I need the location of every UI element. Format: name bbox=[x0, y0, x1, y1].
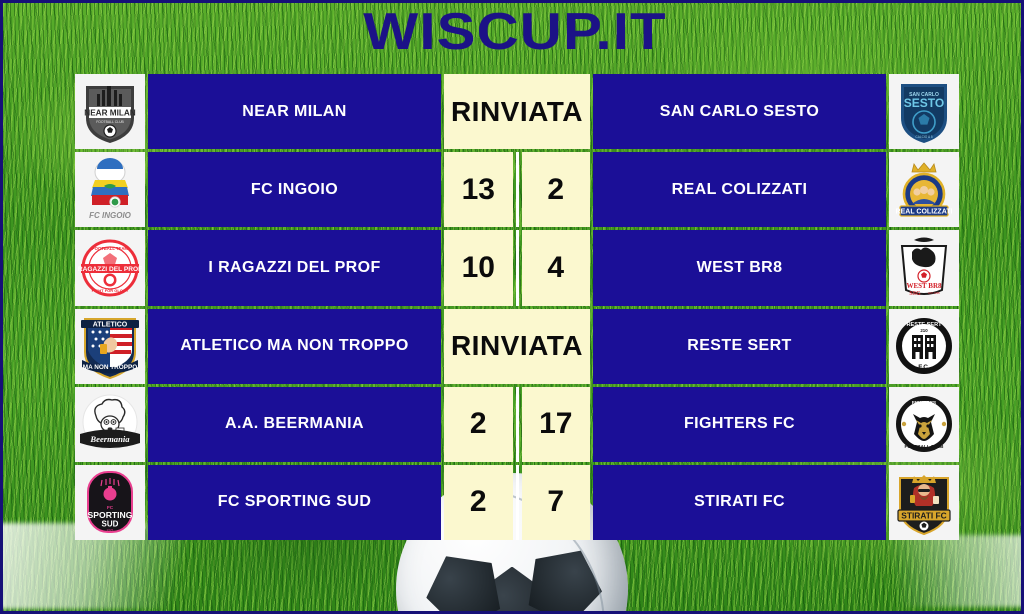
away-logo-cell: WEST BR8 SSG EST 1895 bbox=[889, 230, 959, 305]
home-logo-cell: Beermania bbox=[75, 387, 145, 462]
reste-sert-crest-icon: RESTE SERT 210 F.C. bbox=[892, 312, 956, 380]
away-team-name: REAL COLIZZATI bbox=[593, 152, 886, 227]
page-title: WISCUP.IT bbox=[0, 1, 1024, 63]
home-logo-cell: FC SPORTING SUD 2025 bbox=[75, 465, 145, 540]
home-team-name: ATLETICO MA NON TROPPO bbox=[148, 309, 441, 384]
svg-text:MA NON TROPPO: MA NON TROPPO bbox=[83, 364, 137, 371]
svg-text:FOOTBALL TEAM: FOOTBALL TEAM bbox=[92, 246, 128, 251]
away-logo-cell: FIGHTERS FOOTBALL CLUB bbox=[889, 387, 959, 462]
fc-ingoio-crest-icon: FC INGOIO bbox=[78, 156, 142, 224]
match-status: RINVIATA bbox=[444, 309, 590, 384]
home-logo-cell: FOOTBALL TEAM RAGAZZI DEL PROF FIGHT FOR… bbox=[75, 230, 145, 305]
away-team-name: WEST BR8 bbox=[593, 230, 886, 305]
home-score: 2 bbox=[444, 387, 513, 462]
away-logo-cell: REAL COLIZZATI bbox=[889, 152, 959, 227]
away-team-name: FIGHTERS FC bbox=[593, 387, 886, 462]
away-team-name: SAN CARLO SESTO bbox=[593, 74, 886, 149]
svg-text:FOOTBALL CLUB: FOOTBALL CLUB bbox=[96, 120, 124, 124]
home-score: 10 bbox=[444, 230, 513, 305]
svg-text:REAL COLIZZATI: REAL COLIZZATI bbox=[896, 208, 953, 215]
away-team-name: STIRATI FC bbox=[593, 465, 886, 540]
near-milan-crest-icon: NEAR MILAN FOOTBALL CLUB bbox=[78, 78, 142, 146]
away-logo-cell: SAN CARLO SESTO CALCIO A 5 bbox=[889, 74, 959, 149]
away-logo-cell: STIRATI FC bbox=[889, 465, 959, 540]
svg-text:2025: 2025 bbox=[107, 528, 114, 532]
svg-text:FOOTBALL CLUB: FOOTBALL CLUB bbox=[905, 444, 945, 449]
svg-text:FIGHT FOR GLORY: FIGHT FOR GLORY bbox=[92, 288, 129, 293]
svg-text:ATLETICO: ATLETICO bbox=[93, 321, 128, 328]
table-row: Beermania A.A. BEERMANIA 2 17 FIGHTERS F… bbox=[75, 387, 959, 462]
home-score: 2 bbox=[444, 465, 513, 540]
svg-text:SSG: SSG bbox=[909, 291, 921, 297]
home-team-name: FC SPORTING SUD bbox=[148, 465, 441, 540]
svg-text:RAGAZZI DEL PROF: RAGAZZI DEL PROF bbox=[78, 266, 142, 273]
svg-text:EST 1895: EST 1895 bbox=[928, 291, 940, 295]
svg-text:STIRATI FC: STIRATI FC bbox=[901, 511, 946, 521]
svg-text:SPORTING: SPORTING bbox=[88, 510, 133, 520]
home-score: 13 bbox=[444, 152, 513, 227]
table-row: FC SPORTING SUD 2025 FC SPORTING SUD 2 7… bbox=[75, 465, 959, 540]
svg-text:WEST BR8: WEST BR8 bbox=[906, 282, 942, 290]
score-divider bbox=[516, 152, 519, 227]
home-team-name: I RAGAZZI DEL PROF bbox=[148, 230, 441, 305]
away-score: 2 bbox=[522, 152, 591, 227]
aa-beermania-crest-icon: Beermania bbox=[78, 390, 142, 458]
home-logo-cell: ATLETICO MA NON TROPPO bbox=[75, 309, 145, 384]
table-row: FC INGOIO FC INGOIO 13 2 REAL COLIZZATI bbox=[75, 152, 959, 227]
home-logo-cell: NEAR MILAN FOOTBALL CLUB bbox=[75, 74, 145, 149]
table-row: ATLETICO MA NON TROPPO ATLETICO MA NON T… bbox=[75, 309, 959, 384]
svg-text:NEAR MILAN: NEAR MILAN bbox=[84, 108, 135, 117]
svg-text:FC INGOIO: FC INGOIO bbox=[89, 211, 132, 220]
match-status: RINVIATA bbox=[444, 74, 590, 149]
score-divider bbox=[516, 230, 519, 305]
fc-sporting-sud-crest-icon: FC SPORTING SUD 2025 bbox=[78, 468, 142, 536]
home-team-name: NEAR MILAN bbox=[148, 74, 441, 149]
away-team-name: RESTE SERT bbox=[593, 309, 886, 384]
table-row: FOOTBALL TEAM RAGAZZI DEL PROF FIGHT FOR… bbox=[75, 230, 959, 305]
results-graphic: WISCUP.IT NEAR MILAN FOOTBALL CLUB bbox=[0, 0, 1024, 614]
away-score: 7 bbox=[522, 465, 591, 540]
stirati-fc-crest-icon: STIRATI FC bbox=[892, 468, 956, 536]
west-br8-crest-icon: WEST BR8 SSG EST 1895 bbox=[892, 234, 956, 302]
table-row: NEAR MILAN FOOTBALL CLUB NEAR MILAN RINV… bbox=[75, 74, 959, 149]
real-colizzati-crest-icon: REAL COLIZZATI bbox=[892, 156, 956, 224]
score-divider bbox=[516, 465, 519, 540]
home-team-name: A.A. BEERMANIA bbox=[148, 387, 441, 462]
svg-text:CALCIO A 5: CALCIO A 5 bbox=[915, 135, 932, 139]
san-carlo-sesto-crest-icon: SAN CARLO SESTO CALCIO A 5 bbox=[892, 78, 956, 146]
svg-text:210: 210 bbox=[920, 328, 928, 333]
svg-text:SESTO: SESTO bbox=[904, 96, 944, 110]
away-logo-cell: RESTE SERT 210 F.C. bbox=[889, 309, 959, 384]
away-score: 17 bbox=[522, 387, 591, 462]
score-divider bbox=[516, 387, 519, 462]
atletico-ma-non-troppo-crest-icon: ATLETICO MA NON TROPPO bbox=[78, 312, 142, 380]
pitch-line-right bbox=[841, 535, 1024, 607]
fighters-fc-crest-icon: FIGHTERS FOOTBALL CLUB bbox=[892, 390, 956, 458]
i-ragazzi-del-prof-crest-icon: FOOTBALL TEAM RAGAZZI DEL PROF FIGHT FOR… bbox=[78, 234, 142, 302]
svg-text:F.C.: F.C. bbox=[918, 364, 930, 371]
results-table: NEAR MILAN FOOTBALL CLUB NEAR MILAN RINV… bbox=[75, 74, 959, 540]
away-score: 4 bbox=[522, 230, 591, 305]
home-team-name: FC INGOIO bbox=[148, 152, 441, 227]
svg-text:FIGHTERS: FIGHTERS bbox=[912, 400, 937, 406]
svg-text:Beermania: Beermania bbox=[89, 434, 130, 444]
home-logo-cell: FC INGOIO bbox=[75, 152, 145, 227]
